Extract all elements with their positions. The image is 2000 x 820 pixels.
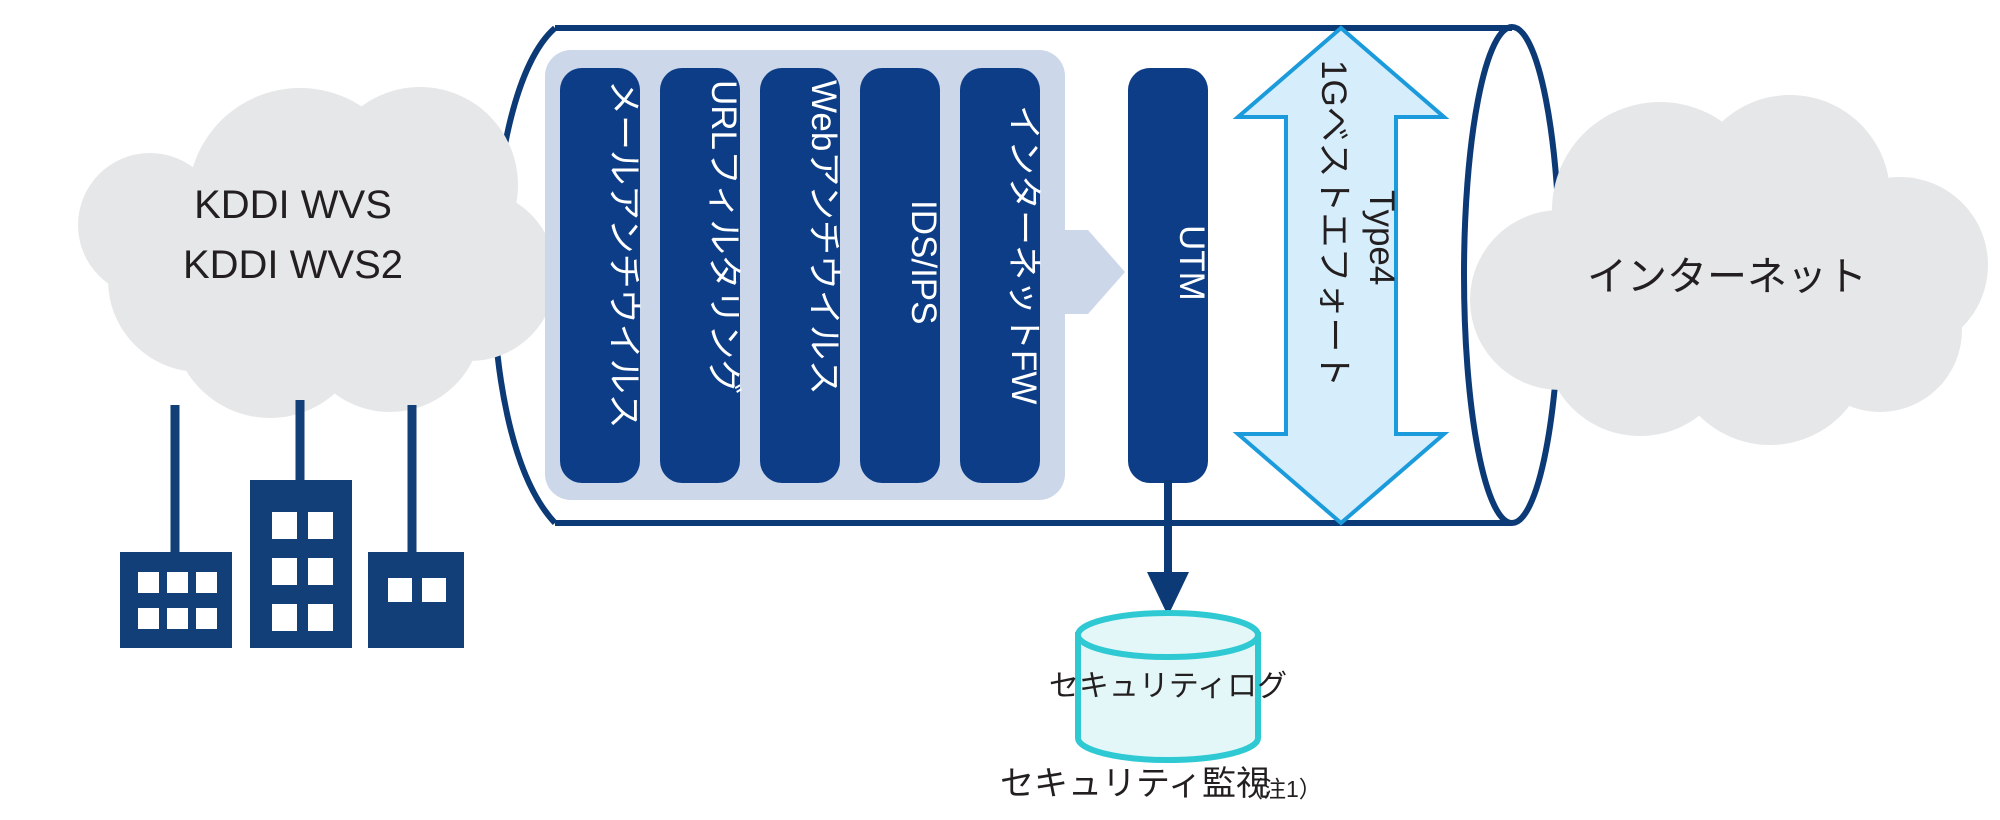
security-monitoring-caption: セキュリティ監視 （注1）: [1000, 765, 1322, 803]
security-pill-url-filtering[interactable]: URLフィルタリング: [660, 68, 743, 483]
security-log-store: セキュリティログ: [1049, 613, 1287, 760]
bandwidth-arrow-line1: Type4: [1362, 190, 1401, 285]
bandwidth-arrow-line2: 1Gベストエフォート: [1314, 60, 1353, 387]
security-pill-label-ids-ips: IDS/IPS: [904, 200, 943, 324]
network-diagram: KDDI WVS KDDI WVS2: [0, 0, 2000, 820]
security-pill-internet-fw[interactable]: インターネットFW: [960, 68, 1043, 483]
office-building-tall-center: [250, 480, 352, 648]
utm-appliance[interactable]: UTM: [1128, 68, 1211, 483]
security-monitoring-note: （注1）: [1240, 776, 1322, 802]
internet-cloud-label: インターネット: [1587, 255, 1867, 299]
office-building-small-left: [120, 552, 232, 648]
security-pill-mail-antivirus[interactable]: メールアンチウイルス: [560, 68, 643, 483]
security-log-label: セキュリティログ: [1049, 670, 1287, 703]
bandwidth-arrow: 1Gベストエフォート Type4: [1238, 28, 1444, 523]
security-pill-web-antivirus[interactable]: Webアンチウイルス: [760, 68, 843, 483]
security-log-arrow: [1147, 480, 1189, 616]
office-building-short-right: [368, 552, 464, 648]
security-pill-label-web-antivirus: Webアンチウイルス: [804, 80, 843, 395]
security-pill-label-url-filtering: URLフィルタリング: [704, 80, 743, 394]
security-pill-label-internet-fw: インターネットFW: [1004, 105, 1043, 404]
utm-label: UTM: [1172, 225, 1211, 301]
kddi-wvs-cloud: KDDI WVS KDDI WVS2: [78, 87, 556, 418]
diagram-canvas: KDDI WVS KDDI WVS2: [0, 0, 2000, 820]
internet-cloud: インターネット: [1470, 95, 1988, 445]
kddi-cloud-line1: KDDI WVS: [194, 183, 392, 227]
security-pill-label-mail-antivirus: メールアンチウイルス: [604, 80, 643, 429]
kddi-cloud-line2: KDDI WVS2: [183, 243, 403, 287]
flow-chevron-icon: [1048, 230, 1125, 314]
security-monitoring-text: セキュリティ監視: [1000, 765, 1270, 803]
security-pill-ids-ips[interactable]: IDS/IPS: [860, 68, 943, 483]
